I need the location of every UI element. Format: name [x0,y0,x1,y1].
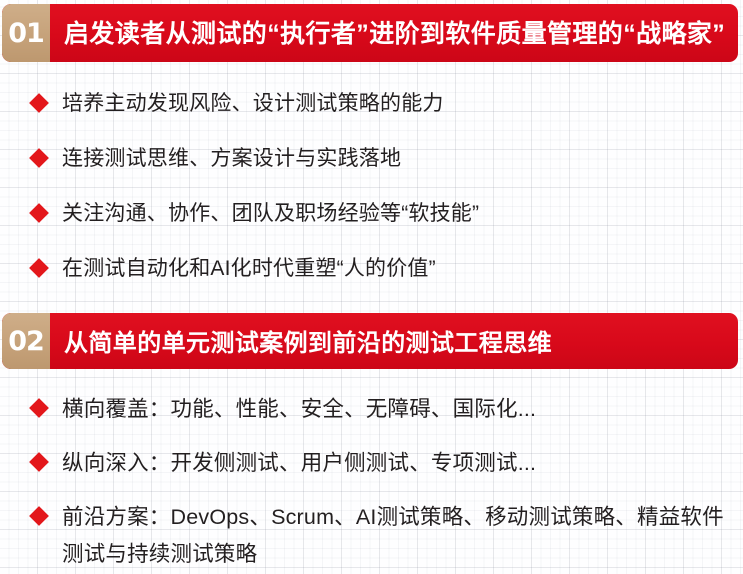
list-item: 培养主动发现风险、设计测试策略的能力 [0,86,743,141]
diamond-icon [29,258,49,278]
list-item-label: 培养主动发现风险、设计测试策略的能力 [62,86,729,122]
diamond-icon [29,93,49,113]
section-title-02: 从简单的单元测试案例到前沿的测试工程思维 [50,313,738,369]
list-item: 纵向深入：开发侧测试、用户侧测试、专项测试... [0,445,743,499]
list-item-label: 前沿方案：DevOps、Scrum、AI测试策略、移动测试策略、精益软件测试与持… [62,499,729,573]
list-item-label: 纵向深入：开发侧测试、用户侧测试、专项测试... [62,445,729,482]
list-item: 连接测试思维、方案设计与实践落地 [0,141,743,196]
section-title-01: 启发读者从测试的“执行者”进阶到软件质量管理的“战略家” [50,4,738,62]
diamond-icon [29,452,49,472]
section-number-badge-01: 01 [2,4,50,62]
section-02-bullet-list: 横向覆盖：功能、性能、安全、无障碍、国际化... 纵向深入：开发侧测试、用户侧测… [0,391,743,573]
list-item: 关注沟通、协作、团队及职场经验等“软技能” [0,196,743,251]
diamond-icon [29,398,49,418]
diamond-icon [29,506,49,526]
list-item-label: 连接测试思维、方案设计与实践落地 [62,141,729,177]
list-item: 横向覆盖：功能、性能、安全、无障碍、国际化... [0,391,743,445]
list-item-label: 关注沟通、协作、团队及职场经验等“软技能” [62,196,729,232]
list-item: 前沿方案：DevOps、Scrum、AI测试策略、移动测试策略、精益软件测试与持… [0,499,743,573]
list-item: 在测试自动化和AI化时代重塑“人的价值” [0,251,743,306]
section-header-02: 02 从简单的单元测试案例到前沿的测试工程思维 [2,313,738,369]
poster-page: 01 启发读者从测试的“执行者”进阶到软件质量管理的“战略家” 培养主动发现风险… [0,0,743,574]
section-header-01: 01 启发读者从测试的“执行者”进阶到软件质量管理的“战略家” [2,4,738,62]
diamond-icon [29,148,49,168]
section-01-bullet-list: 培养主动发现风险、设计测试策略的能力 连接测试思维、方案设计与实践落地 关注沟通… [0,86,743,306]
list-item-label: 横向覆盖：功能、性能、安全、无障碍、国际化... [62,391,729,428]
diamond-icon [29,203,49,223]
list-item-label: 在测试自动化和AI化时代重塑“人的价值” [62,251,729,287]
section-number-badge-02: 02 [2,313,50,369]
